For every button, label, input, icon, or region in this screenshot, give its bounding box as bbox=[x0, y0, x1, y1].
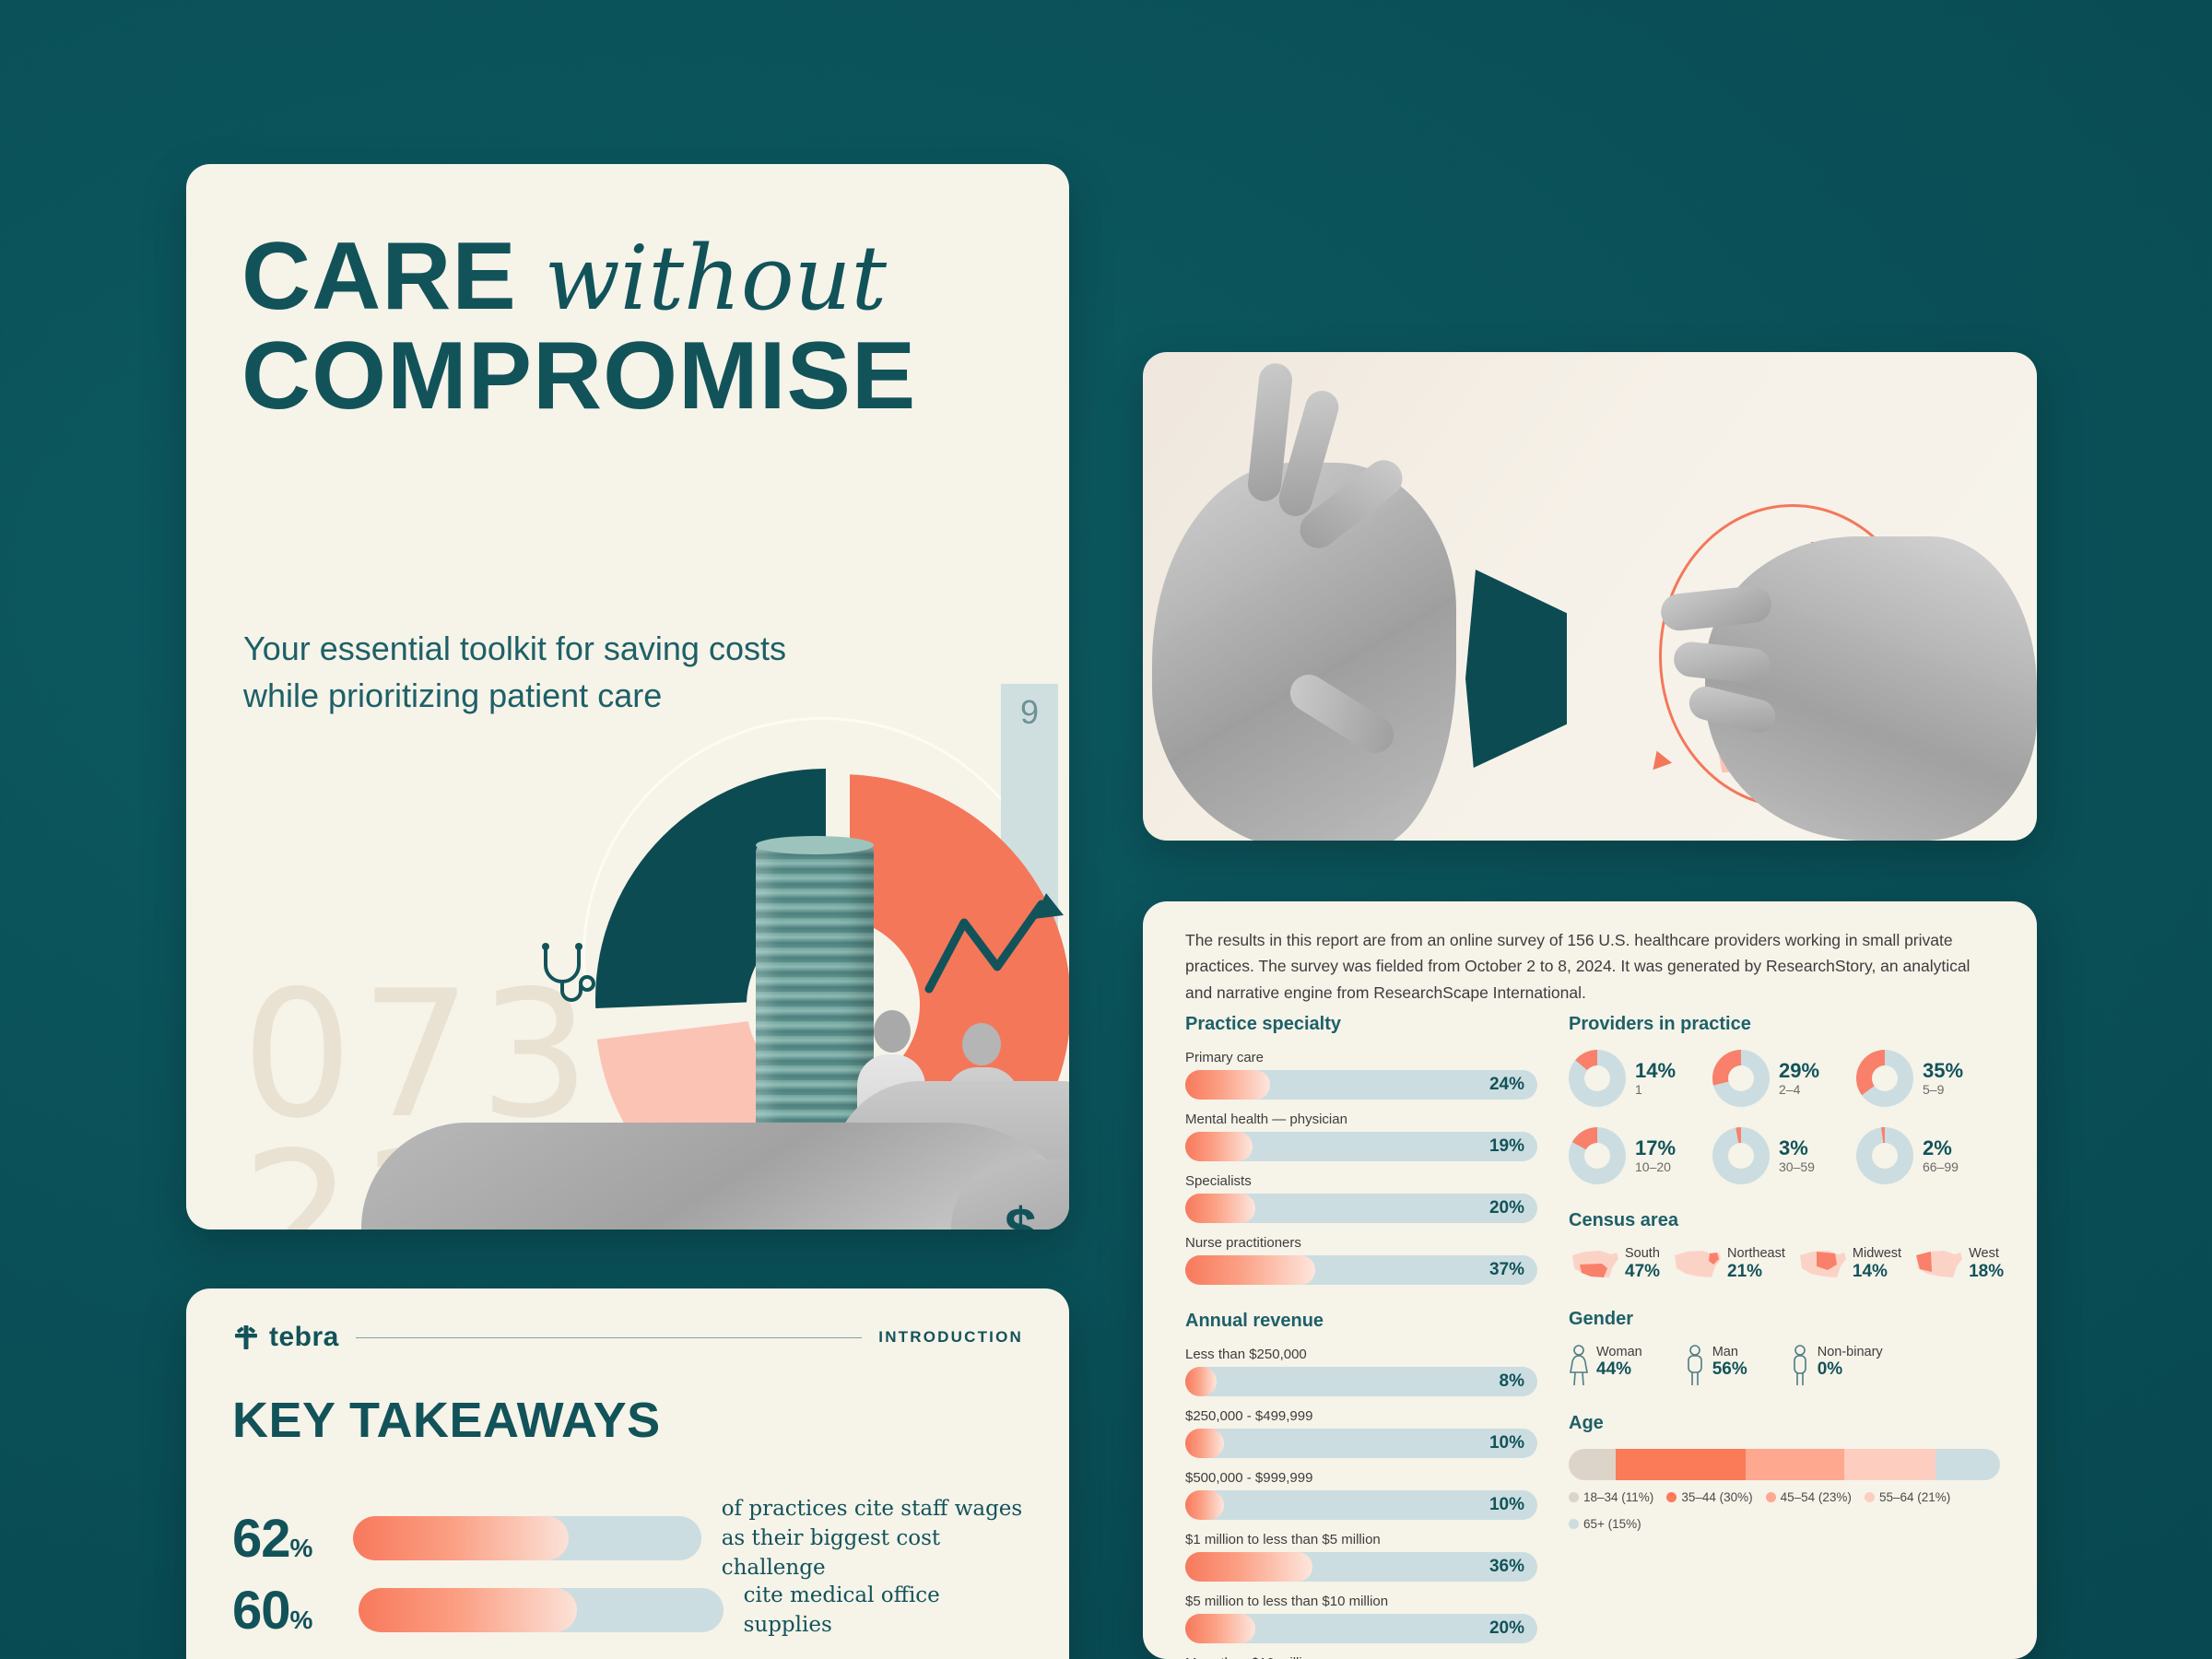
us-map-south-icon bbox=[1569, 1246, 1620, 1283]
specialty-value: 37% bbox=[1489, 1255, 1524, 1285]
specialty-bar-track: 24% bbox=[1185, 1070, 1537, 1100]
census-name: Northeast bbox=[1727, 1246, 1785, 1262]
gender-cell: Non-binary 0% bbox=[1790, 1345, 1883, 1387]
age-stacked-bar bbox=[1569, 1449, 2000, 1480]
specialty-value: 24% bbox=[1489, 1070, 1524, 1100]
provider-donut-cell: 35% 5–9 bbox=[1856, 1050, 2000, 1107]
takeaway-bar-fill bbox=[359, 1588, 577, 1632]
revenue-bar-fill bbox=[1185, 1429, 1224, 1458]
specialty-item: Primary care 24% bbox=[1185, 1050, 1537, 1100]
donut-chart bbox=[1712, 1050, 1770, 1107]
age-segment-45-54 bbox=[1746, 1449, 1845, 1480]
legend-dot bbox=[1766, 1492, 1776, 1502]
cover-title-line1-b: without bbox=[545, 227, 887, 330]
specialty-label: Nurse practitioners bbox=[1185, 1235, 1537, 1251]
revenue-label: $1 million to less than $5 million bbox=[1185, 1532, 1537, 1547]
donut-percent: 35% bbox=[1923, 1060, 1963, 1082]
gender-text: Man 56% bbox=[1712, 1345, 1747, 1380]
person-man-icon bbox=[1685, 1345, 1705, 1387]
donut-labels: 3% 30–59 bbox=[1779, 1137, 1815, 1174]
revenue-value: 10% bbox=[1489, 1429, 1524, 1458]
donut-caption: 66–99 bbox=[1923, 1159, 1959, 1174]
gender-value: 56% bbox=[1712, 1359, 1747, 1380]
age-legend-item: 55–64 (21%) bbox=[1865, 1490, 1950, 1504]
specialty-item: Mental health — physician 19% bbox=[1185, 1112, 1537, 1161]
rotation-arrowhead-icon bbox=[1646, 748, 1674, 776]
revenue-bar-track: 8% bbox=[1185, 1367, 1537, 1396]
provider-donut-cell: 29% 2–4 bbox=[1712, 1050, 1856, 1107]
provider-donut-cell: 2% 66–99 bbox=[1856, 1127, 2000, 1184]
revenue-item: $500,000 - $999,999 10% bbox=[1185, 1470, 1537, 1520]
takeaway-bar-track bbox=[359, 1588, 724, 1632]
gender-name: Woman bbox=[1596, 1345, 1642, 1359]
donut-hole bbox=[1872, 1143, 1898, 1169]
takeaway-percent: 62% bbox=[232, 1508, 333, 1570]
practice-specialty-heading: Practice specialty bbox=[1185, 1014, 1537, 1035]
age-segment-55-64 bbox=[1844, 1449, 1935, 1480]
cover-title: CARE without COMPROMISE bbox=[241, 227, 916, 426]
donut-hole bbox=[1728, 1143, 1754, 1169]
gender-value: 44% bbox=[1596, 1359, 1642, 1380]
legend-dot bbox=[1865, 1492, 1875, 1502]
gender-cell: Man 56% bbox=[1685, 1345, 1747, 1387]
takeaway-percent: 58% bbox=[232, 1652, 339, 1659]
specialty-bar-fill bbox=[1185, 1255, 1315, 1285]
donut-caption: 1 bbox=[1635, 1082, 1676, 1097]
gender-row: Woman 44% Man 56% bbox=[1569, 1345, 2000, 1387]
donut-caption: 2–4 bbox=[1779, 1082, 1819, 1097]
gender-value: 0% bbox=[1818, 1359, 1883, 1380]
specialty-bar-track: 20% bbox=[1185, 1194, 1537, 1223]
revenue-bar-track: 20% bbox=[1185, 1614, 1537, 1643]
specialty-item: Nurse practitioners 37% bbox=[1185, 1235, 1537, 1285]
teal-pie-wedge bbox=[1465, 570, 1567, 768]
cover-title-line1-a: CARE bbox=[241, 223, 517, 330]
cover-card[interactable]: 073 239 9 70 64 bbox=[186, 164, 1069, 1230]
tebra-logo[interactable]: tebra bbox=[232, 1322, 339, 1353]
age-legend-item: 65+ (15%) bbox=[1569, 1517, 1641, 1531]
donut-hole bbox=[1872, 1065, 1898, 1091]
donut-percent: 17% bbox=[1635, 1137, 1676, 1159]
specialty-item: Specialists 20% bbox=[1185, 1173, 1537, 1223]
census-name: South bbox=[1625, 1246, 1660, 1262]
specialty-bar-track: 19% bbox=[1185, 1132, 1537, 1161]
donut-hole bbox=[1584, 1143, 1610, 1169]
census-text: South 47% bbox=[1625, 1246, 1660, 1282]
provider-donut-cell: 17% 10–20 bbox=[1569, 1127, 1712, 1184]
donut-hole bbox=[1728, 1065, 1754, 1091]
legend-dot bbox=[1569, 1492, 1579, 1502]
revenue-item: $5 million to less than $10 million 20% bbox=[1185, 1594, 1537, 1643]
revenue-value: 20% bbox=[1489, 1614, 1524, 1643]
tebra-logo-text: tebra bbox=[269, 1322, 339, 1353]
gender-name: Non-binary bbox=[1818, 1345, 1883, 1359]
donut-percent: 3% bbox=[1779, 1137, 1815, 1159]
key-takeaways-card[interactable]: tebra INTRODUCTION KEY TAKEAWAYS 62% of … bbox=[186, 1288, 1069, 1659]
takeaway-label: cite medical office supplies bbox=[744, 1581, 1032, 1640]
trend-up-arrow-icon bbox=[924, 888, 1069, 998]
us-map-northeast-icon bbox=[1671, 1246, 1723, 1283]
left-hand-photo bbox=[1152, 463, 1456, 841]
survey-intro-text: The results in this report are from an o… bbox=[1185, 927, 1993, 1006]
specialty-label: Primary care bbox=[1185, 1050, 1537, 1065]
census-area-row: South 47% Northeast 21% bbox=[1569, 1246, 2000, 1283]
age-segment-18-34 bbox=[1569, 1449, 1616, 1480]
gender-cell: Woman 44% bbox=[1569, 1345, 1642, 1387]
providers-donut-grid: 14% 1 29% 2–4 35% 5–9 bbox=[1569, 1050, 2000, 1184]
revenue-label: More than $10 million bbox=[1185, 1655, 1537, 1659]
census-cell: West 18% bbox=[1912, 1246, 2004, 1283]
revenue-bar-fill bbox=[1185, 1367, 1217, 1396]
donut-labels: 17% 10–20 bbox=[1635, 1137, 1676, 1174]
legend-label: 65+ (15%) bbox=[1583, 1517, 1641, 1531]
revenue-value: 10% bbox=[1489, 1490, 1524, 1520]
specialty-bar-fill bbox=[1185, 1132, 1253, 1161]
takeaway-row: 62% of practices cite staff wages as the… bbox=[232, 1502, 1032, 1574]
census-area-heading: Census area bbox=[1569, 1210, 2000, 1231]
census-name: Midwest bbox=[1853, 1246, 1901, 1262]
gender-text: Non-binary 0% bbox=[1818, 1345, 1883, 1380]
age-heading: Age bbox=[1569, 1413, 2000, 1434]
donut-percent: 29% bbox=[1779, 1060, 1819, 1082]
donut-chart bbox=[1569, 1127, 1626, 1184]
age-legend-item: 45–54 (23%) bbox=[1766, 1490, 1852, 1504]
us-map-west-icon bbox=[1912, 1246, 1964, 1283]
census-text: Midwest 14% bbox=[1853, 1246, 1901, 1282]
donut-percent: 2% bbox=[1923, 1137, 1959, 1159]
donut-caption: 10–20 bbox=[1635, 1159, 1676, 1174]
donut-labels: 14% 1 bbox=[1635, 1060, 1676, 1097]
revenue-bar-fill bbox=[1185, 1490, 1224, 1520]
header-divider bbox=[356, 1337, 862, 1338]
revenue-label: $250,000 - $499,999 bbox=[1185, 1408, 1537, 1424]
dollar-sign-large-icon: $ bbox=[1005, 1196, 1036, 1230]
takeaway-label: of practices cite staff wages as their b… bbox=[722, 1494, 1032, 1583]
section-eyebrow: INTRODUCTION bbox=[878, 1328, 1023, 1347]
donut-labels: 29% 2–4 bbox=[1779, 1060, 1819, 1097]
gender-text: Woman 44% bbox=[1596, 1345, 1642, 1380]
revenue-item: $250,000 - $499,999 10% bbox=[1185, 1408, 1537, 1458]
donut-percent: 14% bbox=[1635, 1060, 1676, 1082]
legend-dot bbox=[1569, 1519, 1579, 1529]
age-legend: 18–34 (11%) 35–44 (30%) 45–54 (23%) 55–6… bbox=[1569, 1490, 2000, 1531]
survey-left-column: Practice specialty Primary care 24% Ment… bbox=[1185, 1014, 1537, 1659]
takeaway-bar-fill bbox=[353, 1516, 569, 1560]
providers-in-practice-heading: Providers in practice bbox=[1569, 1014, 2000, 1035]
legend-label: 35–44 (30%) bbox=[1681, 1490, 1752, 1504]
donut-hole bbox=[1584, 1065, 1610, 1091]
bar-1-value: 9 bbox=[1001, 693, 1058, 732]
donut-caption: 30–59 bbox=[1779, 1159, 1815, 1174]
revenue-bar-track: 10% bbox=[1185, 1429, 1537, 1458]
age-segment-65-plus bbox=[1935, 1449, 2000, 1480]
age-legend-item: 35–44 (30%) bbox=[1666, 1490, 1752, 1504]
takeaways-title: KEY TAKEAWAYS bbox=[232, 1392, 661, 1449]
census-text: Northeast 21% bbox=[1727, 1246, 1785, 1282]
revenue-bar-track: 10% bbox=[1185, 1490, 1537, 1520]
donut-labels: 35% 5–9 bbox=[1923, 1060, 1963, 1097]
specialty-value: 20% bbox=[1489, 1194, 1524, 1223]
revenue-item: $1 million to less than $5 million 36% bbox=[1185, 1532, 1537, 1582]
provider-donut-cell: 14% 1 bbox=[1569, 1050, 1712, 1107]
legend-label: 55–64 (21%) bbox=[1879, 1490, 1950, 1504]
legend-dot bbox=[1666, 1492, 1677, 1502]
gender-heading: Gender bbox=[1569, 1309, 2000, 1330]
stethoscope-icon bbox=[536, 943, 601, 1017]
census-name: West bbox=[1969, 1246, 2004, 1262]
revenue-bar-fill bbox=[1185, 1552, 1312, 1582]
specialty-label: Specialists bbox=[1185, 1173, 1537, 1189]
census-cell: Northeast 21% bbox=[1671, 1246, 1785, 1283]
specialty-label: Mental health — physician bbox=[1185, 1112, 1537, 1127]
revenue-value: 8% bbox=[1500, 1367, 1524, 1396]
census-value: 18% bbox=[1969, 1262, 2004, 1282]
cover-subtitle: Your essential toolkit for saving costs … bbox=[243, 625, 786, 719]
age-legend-item: 18–34 (11%) bbox=[1569, 1490, 1653, 1504]
revenue-bar-fill bbox=[1185, 1614, 1255, 1643]
census-cell: Midwest 14% bbox=[1796, 1246, 1901, 1283]
revenue-item: Less than $250,000 8% bbox=[1185, 1347, 1537, 1396]
age-segment-35-44 bbox=[1616, 1449, 1745, 1480]
revenue-label: $500,000 - $999,999 bbox=[1185, 1470, 1537, 1486]
donut-chart bbox=[1712, 1127, 1770, 1184]
specialty-bar-track: 37% bbox=[1185, 1255, 1537, 1285]
legend-label: 18–34 (11%) bbox=[1583, 1490, 1653, 1504]
donut-chart bbox=[1856, 1127, 1913, 1184]
open-palm-hand bbox=[361, 1123, 1069, 1230]
specialty-bar-fill bbox=[1185, 1070, 1270, 1100]
census-value: 21% bbox=[1727, 1262, 1785, 1282]
specialty-value: 19% bbox=[1489, 1132, 1524, 1161]
revenue-label: $5 million to less than $10 million bbox=[1185, 1594, 1537, 1609]
takeaways-rows: 62% of practices cite staff wages as the… bbox=[232, 1502, 1032, 1659]
donut-labels: 2% 66–99 bbox=[1923, 1137, 1959, 1174]
donut-chart bbox=[1569, 1050, 1626, 1107]
revenue-item: More than $10 million bbox=[1185, 1655, 1537, 1659]
census-text: West 18% bbox=[1969, 1246, 2004, 1282]
census-value: 14% bbox=[1853, 1262, 1901, 1282]
gender-name: Man bbox=[1712, 1345, 1747, 1359]
provider-donut-cell: 3% 30–59 bbox=[1712, 1127, 1856, 1184]
specialty-bar-fill bbox=[1185, 1194, 1255, 1223]
person-nonbinary-icon bbox=[1790, 1345, 1810, 1387]
annual-revenue-heading: Annual revenue bbox=[1185, 1311, 1537, 1332]
person-woman-icon bbox=[1569, 1345, 1589, 1387]
donut-caption: 5–9 bbox=[1923, 1082, 1963, 1097]
revenue-bar-track: 36% bbox=[1185, 1552, 1537, 1582]
survey-right-column: Providers in practice 14% 1 29% 2–4 bbox=[1569, 1014, 2000, 1531]
donut-chart bbox=[1856, 1050, 1913, 1107]
tebra-mark-icon bbox=[232, 1324, 260, 1351]
hands-illustration-card[interactable] bbox=[1143, 352, 2037, 841]
takeaways-header: tebra INTRODUCTION bbox=[232, 1322, 1023, 1353]
revenue-label: Less than $250,000 bbox=[1185, 1347, 1537, 1362]
takeaway-percent: 60% bbox=[232, 1580, 338, 1641]
right-hand-photo bbox=[1705, 536, 2037, 841]
us-map-midwest-icon bbox=[1796, 1246, 1848, 1283]
survey-methodology-card[interactable]: The results in this report are from an o… bbox=[1143, 901, 2037, 1659]
legend-label: 45–54 (23%) bbox=[1781, 1490, 1852, 1504]
revenue-value: 36% bbox=[1489, 1552, 1524, 1582]
takeaway-bar-track bbox=[353, 1516, 700, 1560]
census-cell: South 47% bbox=[1569, 1246, 1660, 1283]
census-value: 47% bbox=[1625, 1262, 1660, 1282]
takeaway-row: 58% cite office maintenance bbox=[232, 1646, 1032, 1659]
takeaway-row: 60% cite medical office supplies bbox=[232, 1574, 1032, 1646]
cover-title-line2: COMPROMISE bbox=[241, 323, 916, 429]
